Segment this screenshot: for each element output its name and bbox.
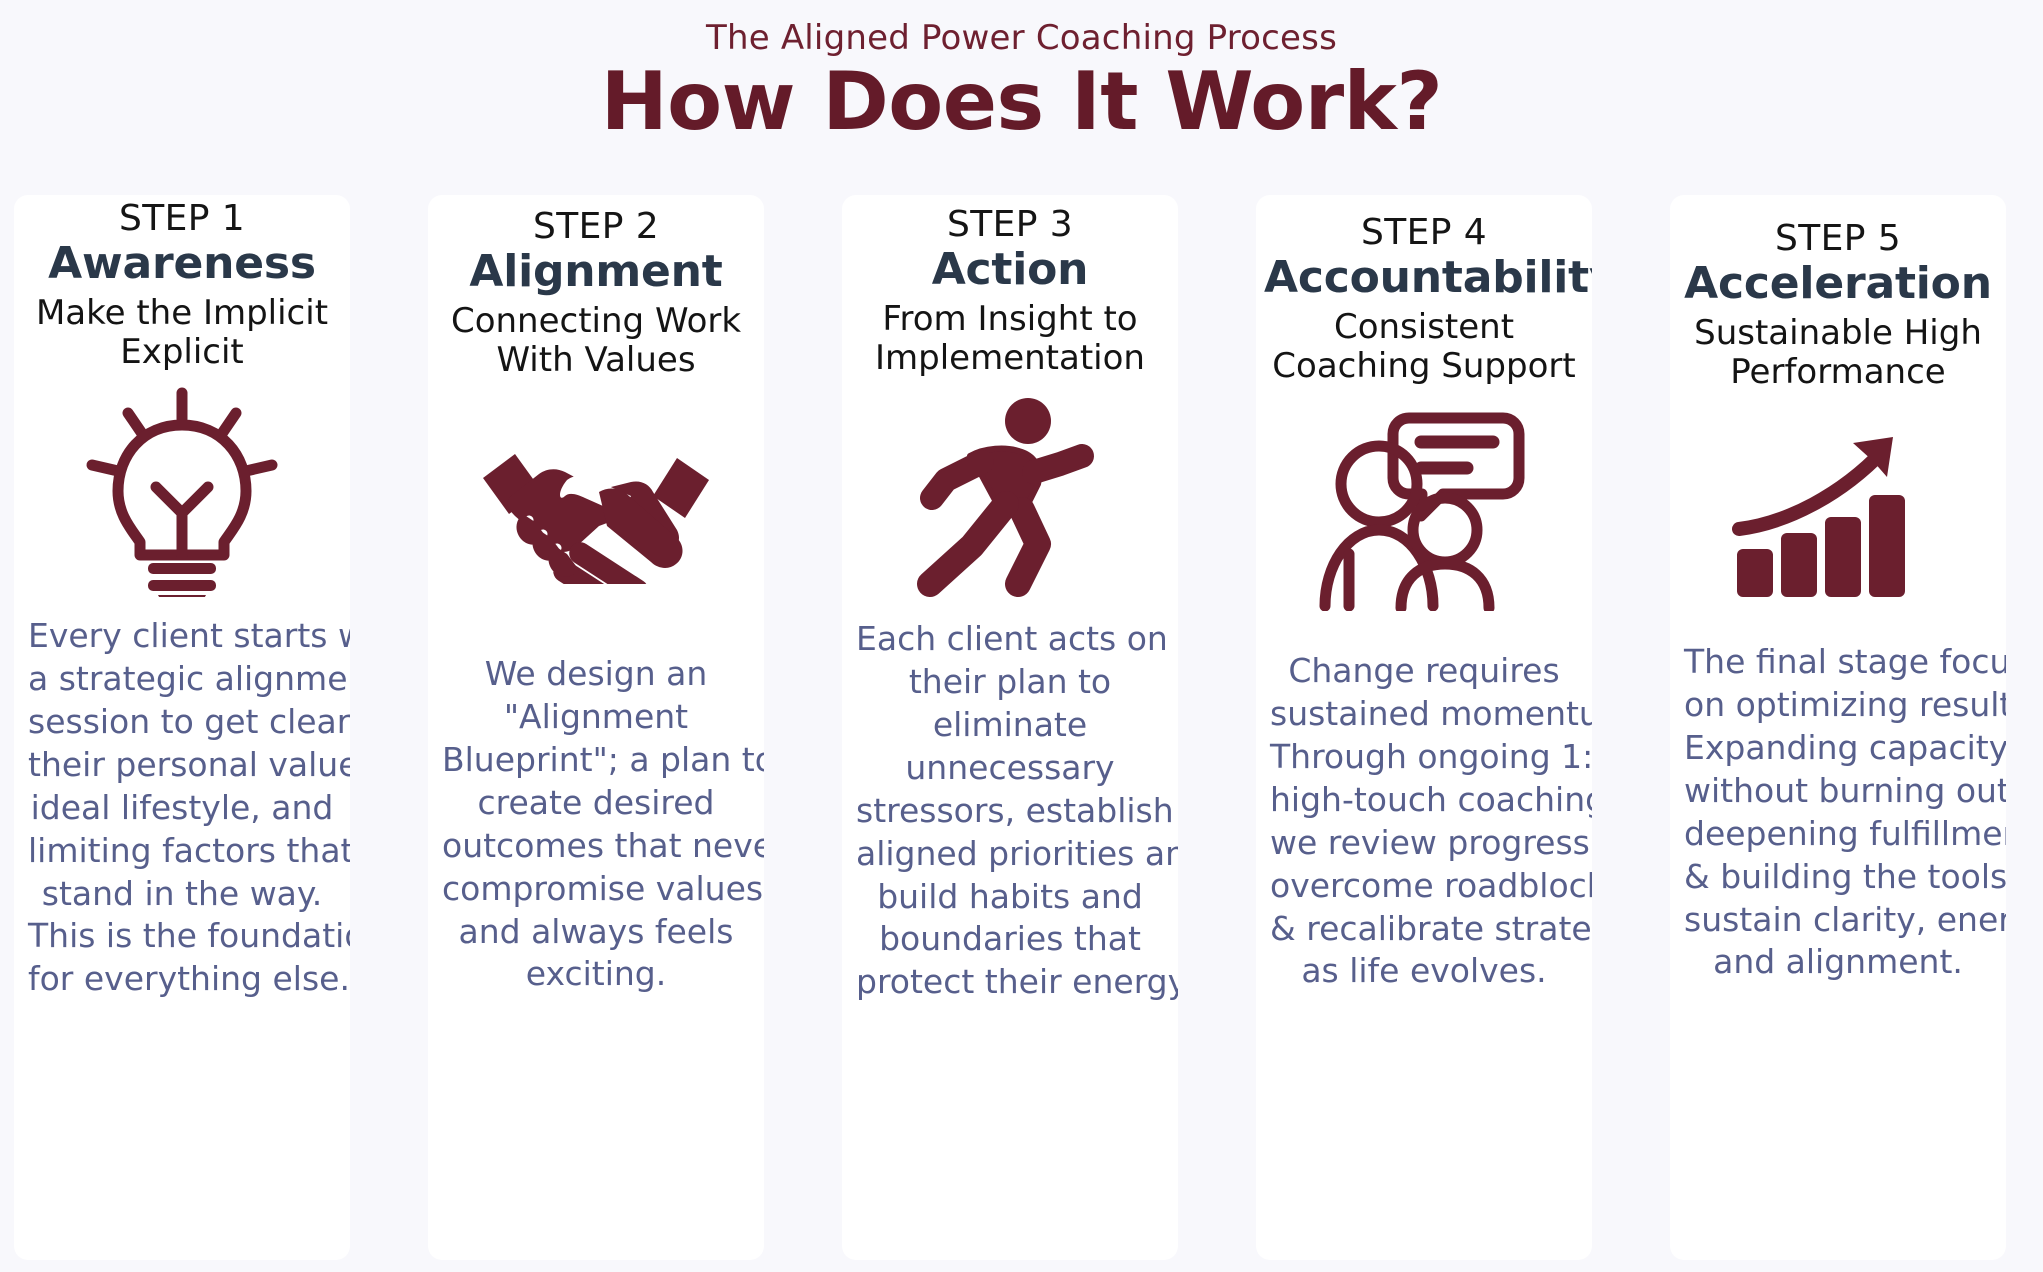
step-name: Accountability [1264, 254, 1584, 302]
lightbulb-icon [22, 387, 342, 597]
body-line: as life evolves. [1270, 950, 1578, 993]
steps-container: STEP 1 Awareness Make the Implicit Expli… [0, 190, 2043, 1272]
step-label: STEP 1 [22, 199, 342, 239]
step-header: STEP 5 Acceleration Sustainable High Per… [1678, 195, 1998, 393]
step-name: Acceleration [1678, 260, 1998, 308]
infographic-page: The Aligned Power Coaching Process How D… [0, 0, 2043, 1272]
body-line: Blueprint"; a plan to [442, 739, 750, 782]
step-name: Alignment [436, 248, 756, 296]
body-line: protect their energy. [856, 961, 1164, 1004]
body-line: stressors, establish [856, 790, 1164, 833]
body-line: and always feels [442, 911, 750, 954]
step-subtitle-line: Implementation [875, 338, 1145, 378]
body-line: "Alignment [442, 696, 750, 739]
body-line: sustain clarity, energy, [1684, 899, 1992, 942]
step-subtitle-line: Sustainable High [1694, 313, 1982, 353]
body-line: deepening fulfillment, [1684, 813, 1992, 856]
step-label: STEP 4 [1264, 213, 1584, 253]
body-line: unnecessary [856, 747, 1164, 790]
body-line: outcomes that never [442, 825, 750, 868]
step-subtitle: Sustainable High Performance [1678, 314, 1998, 394]
step-header: STEP 1 Awareness Make the Implicit Expli… [22, 195, 342, 373]
body-line: we review progress, [1270, 822, 1578, 865]
body-line: exciting. [442, 953, 750, 996]
step-card-awareness[interactable]: STEP 1 Awareness Make the Implicit Expli… [14, 195, 350, 1260]
body-line: overcome roadblocks, [1270, 865, 1578, 908]
step-subtitle-line: Values [584, 340, 695, 380]
step-header: STEP 4 Accountability Consistent Coachin… [1264, 195, 1584, 387]
body-line: The final stage focuses [1684, 641, 1992, 684]
header-eyebrow: The Aligned Power Coaching Process [0, 18, 2043, 58]
body-line: create desired [442, 782, 750, 825]
body-line: limiting factors that [28, 830, 336, 873]
page-title: How Does It Work? [0, 62, 2043, 142]
body-line: sustained momentum. [1270, 693, 1578, 736]
handshake-icon [436, 409, 756, 609]
step-subtitle: From Insight to Implementation [850, 300, 1170, 380]
step-card-action[interactable]: STEP 3 Action From Insight to Implementa… [842, 195, 1178, 1260]
page-header: The Aligned Power Coaching Process How D… [0, 0, 2043, 190]
body-line: Through ongoing 1:1 [1270, 736, 1578, 779]
step-body: Every client starts with a strategic ali… [22, 615, 342, 1001]
body-line: compromise values [442, 868, 750, 911]
step-body: We design an "Alignment Blueprint"; a pl… [436, 653, 756, 996]
step-name: Awareness [22, 240, 342, 288]
body-line: session to get clear on [28, 701, 336, 744]
step-name: Action [850, 246, 1170, 294]
step-subtitle: Connecting Work With Values [436, 302, 756, 382]
step-subtitle-line: Connecting [451, 301, 644, 341]
step-subtitle: Consistent Coaching Support [1264, 308, 1584, 388]
step-header: STEP 3 Action From Insight to Implementa… [850, 195, 1170, 379]
body-line: and alignment. [1684, 941, 1992, 984]
step-card-alignment[interactable]: STEP 2 Alignment Connecting Work With Va… [428, 195, 764, 1260]
body-line: their personal values, [28, 744, 336, 787]
step-label: STEP 2 [436, 207, 756, 247]
body-line: for everything else. [28, 958, 336, 1001]
body-line: without burning out, [1684, 770, 1992, 813]
body-line: Each client acts on [856, 618, 1164, 661]
step-body: Each client acts on their plan to elimin… [850, 618, 1170, 1004]
step-label: STEP 5 [1678, 219, 1998, 259]
body-line: aligned priorities and [856, 833, 1164, 876]
body-line: build habits and [856, 876, 1164, 919]
body-line: Expanding capacity [1684, 727, 1992, 770]
step-subtitle-line: Coaching Support [1272, 346, 1575, 386]
step-header: STEP 2 Alignment Connecting Work With Va… [436, 195, 756, 381]
step-label: STEP 3 [850, 205, 1170, 245]
body-line: Change requires [1270, 650, 1578, 693]
body-line: boundaries that [856, 918, 1164, 961]
body-line: ideal lifestyle, and [28, 787, 336, 830]
body-line: eliminate [856, 704, 1164, 747]
step-subtitle-line: Performance [1730, 352, 1945, 392]
step-subtitle-line: Consistent [1334, 307, 1514, 347]
body-line: We design an [442, 653, 750, 696]
step-body: Change requires sustained momentum. Thro… [1264, 650, 1584, 993]
body-line: on optimizing results: [1684, 684, 1992, 727]
body-line: & recalibrate strategies [1270, 908, 1578, 951]
body-line: Every client starts with [28, 615, 336, 658]
body-line: high-touch coaching, [1270, 779, 1578, 822]
body-line: their plan to [856, 661, 1164, 704]
people-speech-bubble-icon [1264, 401, 1584, 616]
step-subtitle: Make the Implicit Explicit [22, 294, 342, 374]
step-subtitle-line: From Insight to [882, 299, 1137, 339]
step-card-acceleration[interactable]: STEP 5 Acceleration Sustainable High Per… [1670, 195, 2006, 1260]
running-person-icon [850, 393, 1170, 608]
step-subtitle-line: Make the [36, 293, 192, 333]
step-card-accountability[interactable]: STEP 4 Accountability Consistent Coachin… [1256, 195, 1592, 1260]
step-body: The final stage focuses on optimizing re… [1678, 641, 1998, 984]
body-line: This is the foundation [28, 915, 336, 958]
growth-chart-icon [1678, 415, 1998, 615]
body-line: a strategic alignment [28, 658, 336, 701]
body-line: stand in the way. [28, 873, 336, 916]
body-line: & building the tools to [1684, 856, 1992, 899]
